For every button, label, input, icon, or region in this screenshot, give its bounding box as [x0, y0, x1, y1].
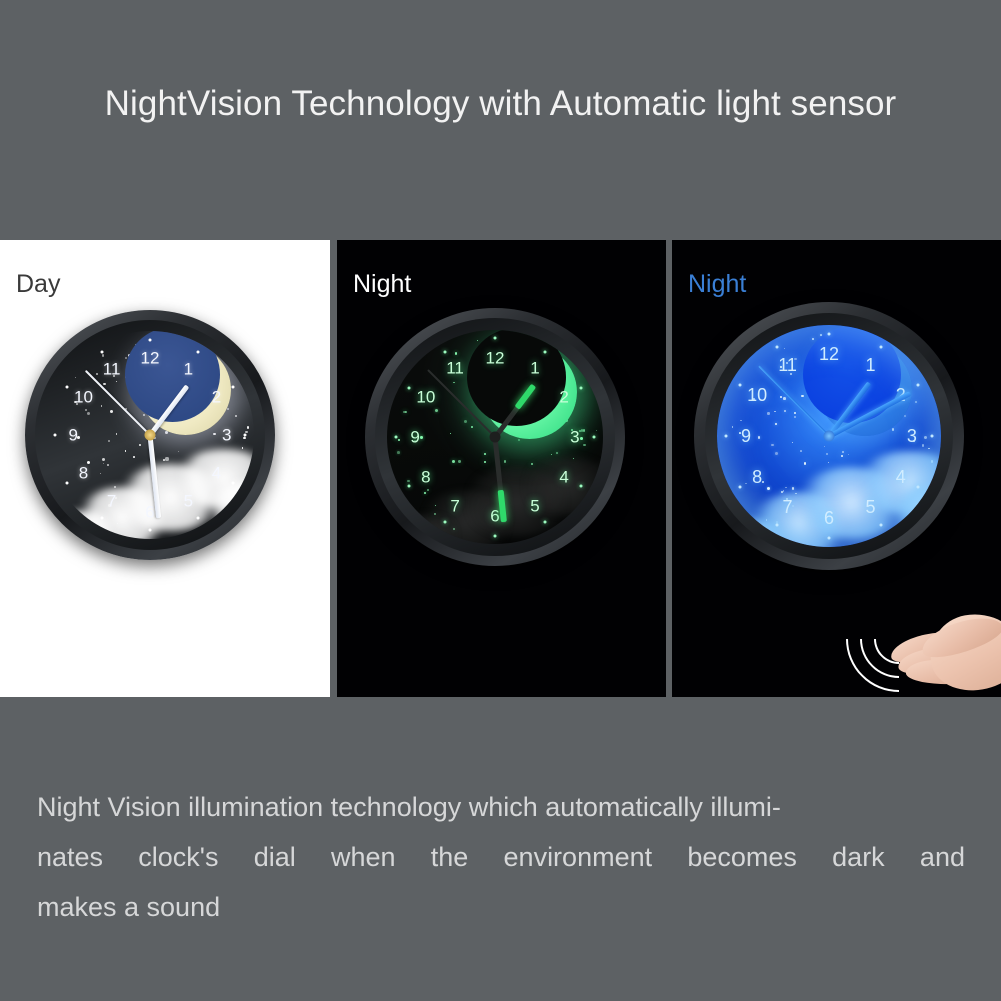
- star: [818, 369, 821, 372]
- clock-numeral-11: 11: [778, 356, 797, 374]
- clock-numeral-9: 9: [741, 427, 751, 445]
- star-field: [717, 325, 941, 547]
- crescent-moon-icon: [818, 343, 912, 436]
- star: [794, 412, 796, 414]
- clock-numeral-7: 7: [783, 498, 793, 516]
- star: [786, 498, 788, 500]
- clock-hands-lit: [717, 325, 941, 547]
- star: [848, 454, 849, 455]
- caption-word: environment: [504, 832, 653, 882]
- clock-tick: [917, 486, 920, 489]
- star: [775, 452, 778, 455]
- panel-band: Day 121234567891011: [0, 240, 1001, 697]
- caption-line-1: Night Vision illumination technology whi…: [37, 782, 965, 832]
- clock-center-cap: [824, 431, 835, 442]
- star: [888, 375, 891, 378]
- star: [762, 481, 764, 483]
- second-hand: [759, 366, 830, 437]
- star: [826, 453, 828, 455]
- hour-hand: [148, 384, 189, 437]
- caption-word: dial: [254, 832, 296, 882]
- minute-hand-luminous-tip: [498, 490, 507, 523]
- star: [786, 362, 788, 364]
- caption-word: nates: [37, 832, 103, 882]
- second-hand: [85, 370, 151, 436]
- star: [893, 416, 896, 419]
- star: [766, 519, 767, 520]
- hour-hand: [827, 381, 871, 438]
- star: [913, 440, 915, 442]
- star: [758, 436, 761, 439]
- star: [824, 446, 825, 447]
- star: [774, 411, 775, 412]
- star: [832, 416, 833, 417]
- clock-numeral-12: 12: [819, 345, 839, 363]
- clock-numeral-3: 3: [907, 427, 917, 445]
- star: [767, 487, 770, 490]
- second-hand: [427, 369, 496, 438]
- star: [801, 395, 804, 398]
- star: [820, 334, 822, 336]
- clock-tick: [738, 383, 741, 386]
- caption-line-3: makes a sound: [37, 882, 965, 932]
- star: [867, 420, 870, 423]
- star: [846, 345, 848, 347]
- crescent-cutout: [803, 326, 901, 423]
- clock-numeral-6: 6: [824, 509, 834, 527]
- clock-hands-day: [46, 331, 254, 539]
- star: [790, 373, 792, 375]
- star: [780, 396, 782, 398]
- clock-hands-night: [387, 330, 603, 544]
- star: [785, 487, 786, 488]
- clock-tick: [931, 435, 934, 438]
- star: [812, 338, 814, 340]
- star: [842, 451, 844, 453]
- star: [892, 428, 894, 430]
- caption-word: clock's: [138, 832, 218, 882]
- panel-night-illuminated: Night 121234567891011: [672, 240, 1001, 697]
- clapping-hands-photo: [904, 600, 1001, 697]
- clock-tick: [724, 435, 727, 438]
- star: [812, 389, 814, 391]
- caption-word: when: [331, 832, 396, 882]
- clock-dial-night: 121234567891011: [387, 330, 603, 544]
- wall-clock-day: 121234567891011: [25, 310, 275, 560]
- caption-word: and: [920, 832, 965, 882]
- star: [753, 398, 755, 400]
- clock-tick: [828, 332, 831, 335]
- star: [784, 410, 786, 412]
- star: [826, 372, 827, 373]
- star: [795, 493, 796, 494]
- star: [783, 490, 784, 491]
- star: [864, 378, 866, 380]
- clock-tick: [879, 523, 882, 526]
- clock-numeral-8: 8: [752, 468, 762, 486]
- wall-clock-night-illuminated: 121234567891011: [694, 302, 964, 570]
- star: [852, 385, 855, 388]
- star: [780, 366, 781, 367]
- star: [857, 350, 858, 351]
- star: [732, 426, 733, 427]
- hour-hand-luminous-tip: [515, 384, 537, 410]
- clock-numeral-10: 10: [747, 386, 767, 404]
- star: [928, 448, 930, 450]
- clock-center-cap: [490, 432, 501, 443]
- caption-word: the: [431, 832, 469, 882]
- clock-tick: [828, 537, 831, 540]
- star: [883, 398, 885, 400]
- star: [792, 505, 794, 507]
- star: [865, 428, 867, 430]
- star: [767, 412, 769, 414]
- star: [794, 358, 797, 361]
- star: [781, 491, 783, 493]
- star: [739, 432, 741, 434]
- star: [800, 450, 802, 452]
- clock-numeral-2: 2: [896, 386, 906, 404]
- star: [815, 345, 817, 347]
- caption-block: Night Vision illumination technology whi…: [37, 782, 965, 932]
- clock-tick: [879, 346, 882, 349]
- clock-tick: [917, 383, 920, 386]
- star: [931, 460, 934, 463]
- star: [831, 385, 833, 387]
- clock-tick: [776, 346, 779, 349]
- star: [783, 397, 786, 400]
- star: [847, 404, 849, 406]
- panel-label-day: Day: [16, 272, 60, 297]
- star: [841, 455, 843, 457]
- star: [776, 521, 779, 524]
- star: [804, 462, 806, 464]
- star: [740, 420, 742, 422]
- page-title: NightVision Technology with Automatic li…: [0, 84, 1001, 124]
- clock-center-cap: [145, 430, 156, 441]
- minute-hand: [828, 391, 911, 439]
- panel-day: Day 121234567891011: [0, 240, 330, 697]
- minute-hand: [148, 435, 162, 518]
- clock-numeral-5: 5: [865, 498, 875, 516]
- star: [872, 366, 875, 369]
- infographic-page: NightVision Technology with Automatic li…: [0, 0, 1001, 1001]
- clock-numerals-lit: 121234567891011: [717, 325, 941, 547]
- panel-label-night-lit: Night: [688, 272, 746, 297]
- star: [792, 442, 793, 443]
- star: [924, 436, 927, 439]
- panel-label-night: Night: [353, 272, 411, 297]
- clock-tick: [738, 486, 741, 489]
- clock-numeral-1: 1: [865, 356, 875, 374]
- clock-dial-lit: 121234567891011: [717, 325, 941, 547]
- star: [828, 462, 829, 463]
- clock-tick: [776, 523, 779, 526]
- star: [794, 416, 796, 418]
- star: [745, 483, 746, 484]
- star: [922, 444, 924, 446]
- star: [830, 387, 832, 389]
- star: [904, 415, 906, 417]
- clock-numeral-4: 4: [896, 468, 906, 486]
- star: [771, 444, 774, 447]
- star: [792, 487, 795, 490]
- caption-word: dark: [832, 832, 885, 882]
- star: [856, 415, 858, 417]
- star: [784, 348, 785, 349]
- caption-line-2: natesclock'sdialwhentheenvironmentbecome…: [37, 832, 965, 882]
- clock-dial-day: 121234567891011: [46, 331, 254, 539]
- caption-word: becomes: [687, 832, 797, 882]
- panel-night-glow: Night 121234567891011: [337, 240, 666, 697]
- wall-clock-night-glow: 121234567891011: [365, 308, 625, 566]
- star: [915, 401, 917, 403]
- star: [775, 423, 777, 425]
